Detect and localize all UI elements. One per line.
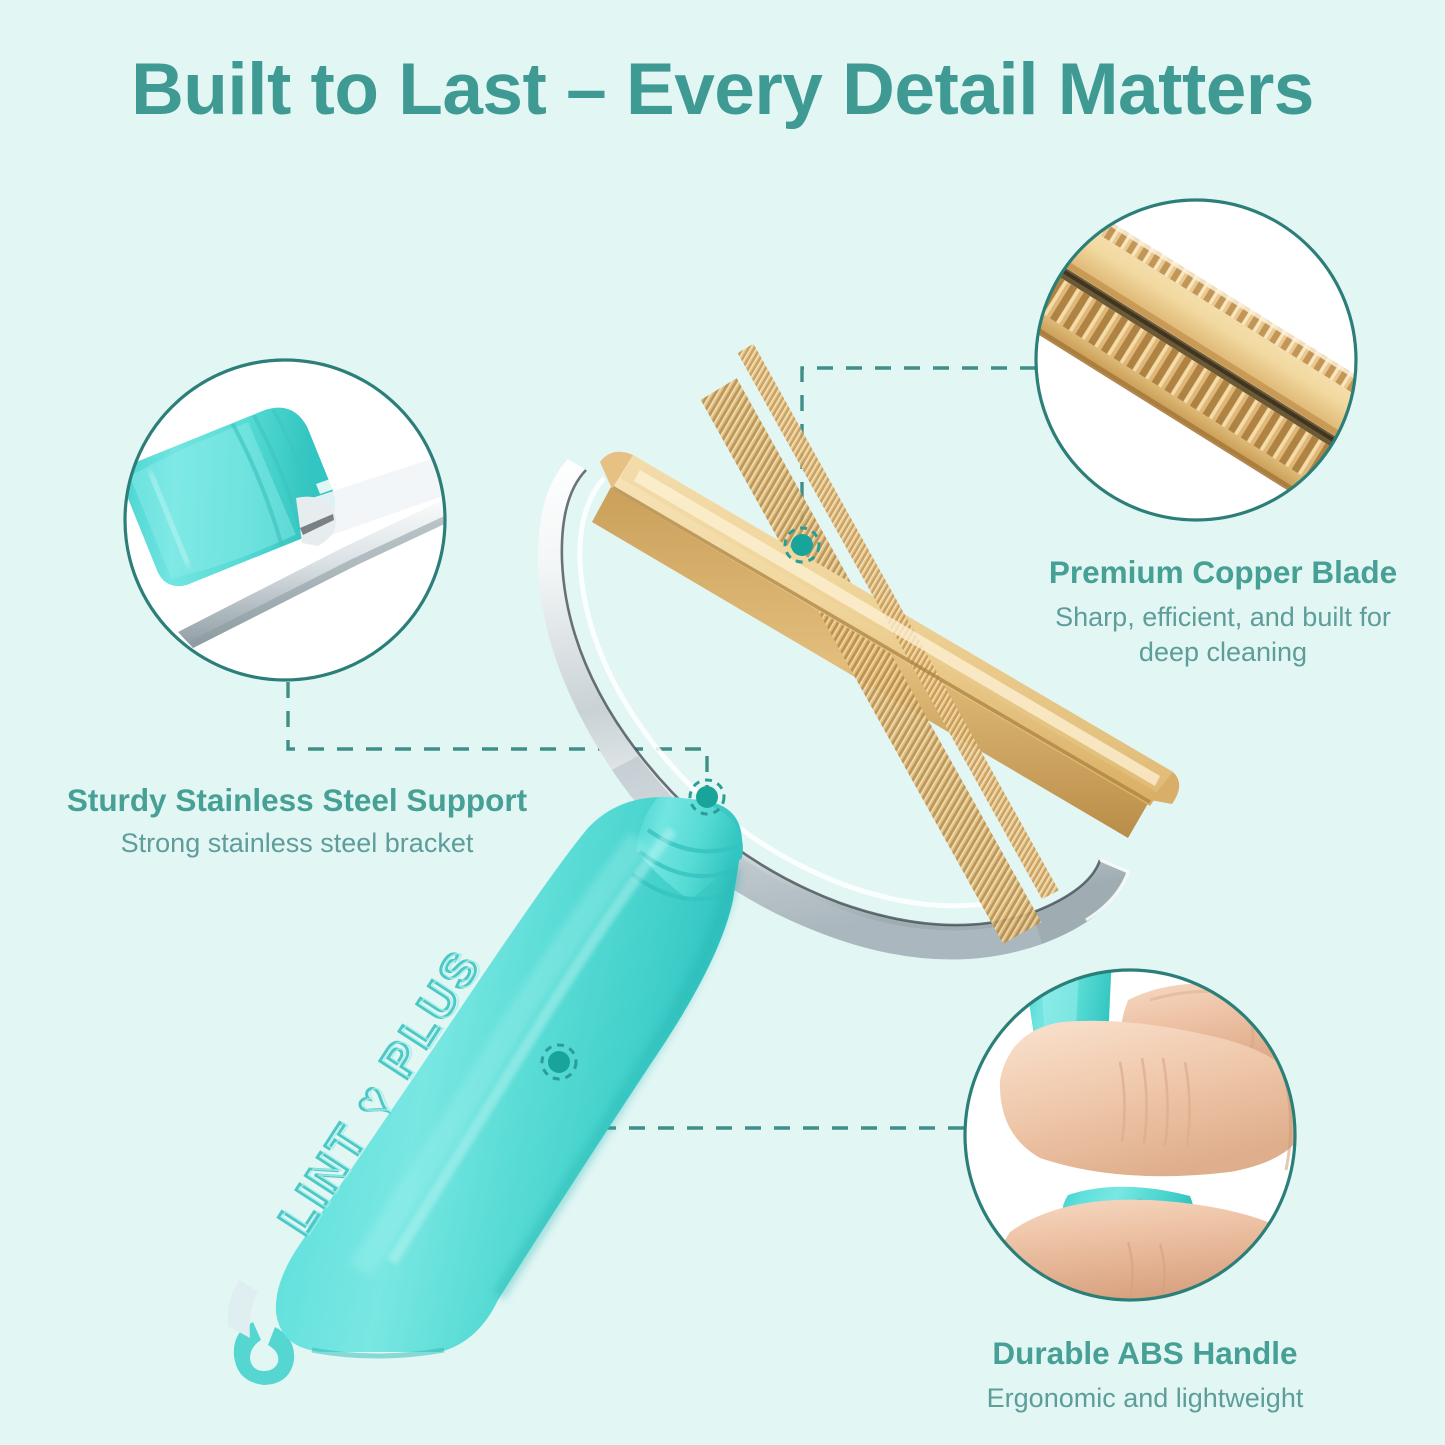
callout-heading-steel-support: Sturdy Stainless Steel Support bbox=[22, 781, 572, 819]
product-illustration: LINT ♥ PLUS LINT ♥ PLUS bbox=[0, 0, 1445, 1445]
page-title: Built to Last – Every Detail Matters bbox=[0, 47, 1445, 133]
callout-subtitle-copper-blade: Sharp, efficient, and built for deep cle… bbox=[1013, 600, 1433, 670]
copper-blade-closeup bbox=[997, 195, 1424, 531]
abs-handle-grip-closeup bbox=[965, 955, 1310, 1300]
abs-handle: LINT ♥ PLUS LINT ♥ PLUS bbox=[228, 797, 743, 1385]
callout-subtitle-steel-support: Strong stainless steel bracket bbox=[22, 826, 572, 861]
stainless-steel-closeup bbox=[116, 360, 470, 680]
callout-heading-abs-handle: Durable ABS Handle bbox=[935, 1334, 1355, 1372]
callout-heading-copper-blade: Premium Copper Blade bbox=[1008, 553, 1438, 591]
infographic-canvas: LINT ♥ PLUS LINT ♥ PLUS Built to Last – … bbox=[0, 0, 1445, 1445]
callout-subtitle-abs-handle: Ergonomic and lightweight bbox=[925, 1381, 1365, 1416]
